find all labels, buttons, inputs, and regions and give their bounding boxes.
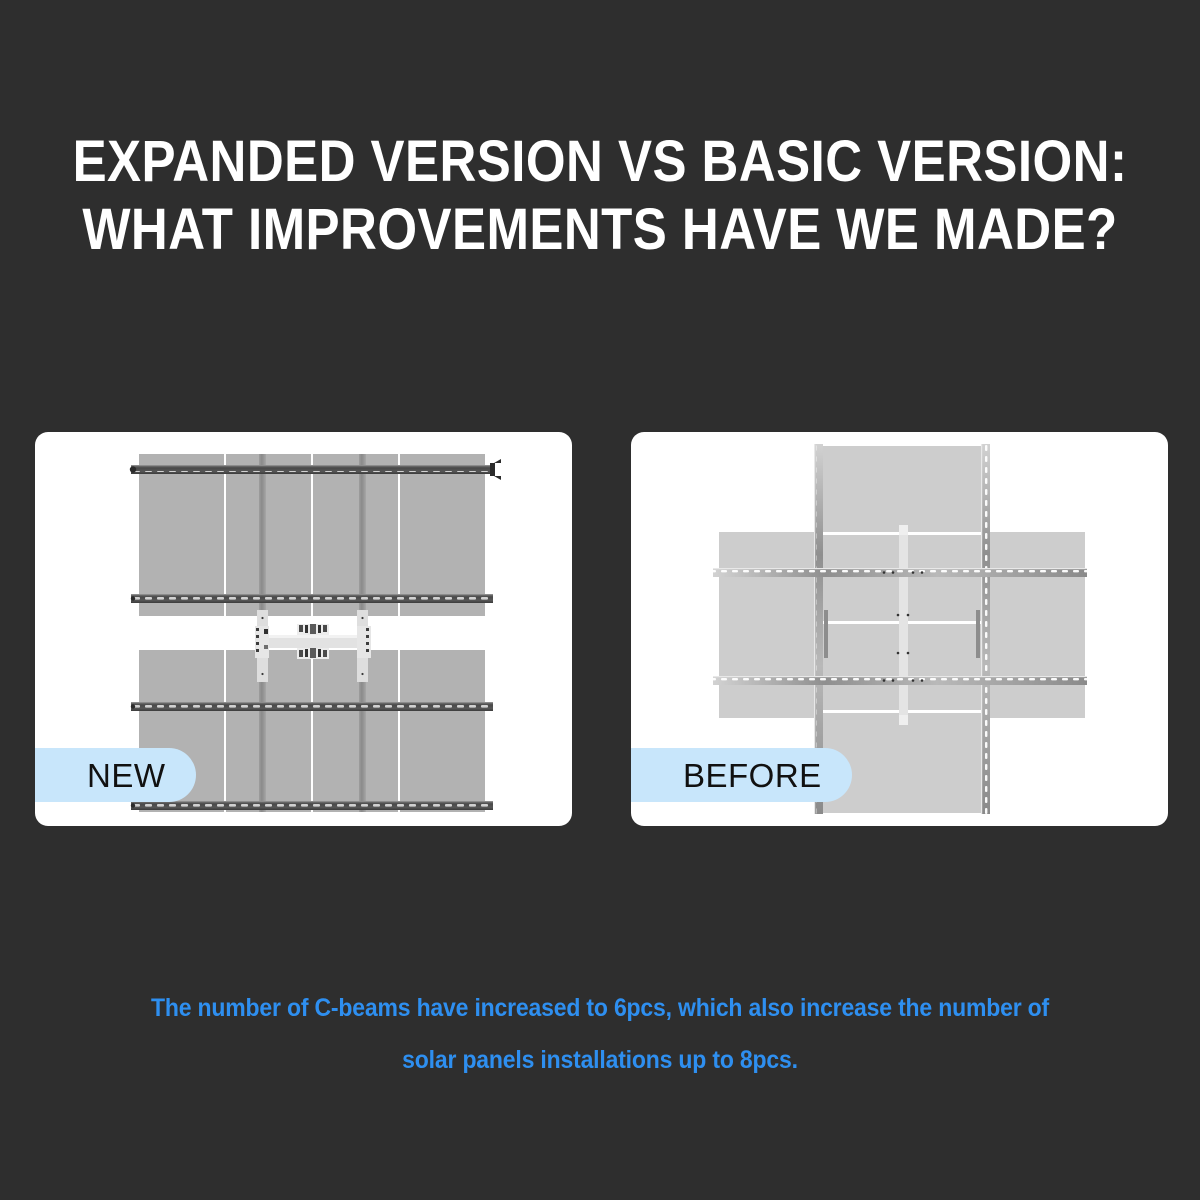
caption-line-1: The number of C-beams have increased to …: [103, 982, 1097, 1034]
caption-line-2: solar panels installations up to 8pcs.: [103, 1034, 1097, 1086]
c-beam-rail: [131, 465, 493, 474]
badge-new-label: NEW: [87, 759, 166, 792]
c-beam-rail: [713, 568, 1087, 577]
vertical-rail: [981, 444, 990, 814]
caption: The number of C-beams have increased to …: [60, 982, 1140, 1086]
badge-new: NEW: [35, 748, 196, 802]
page-title: EXPANDED VERSION VS BASIC VERSION: WHAT …: [0, 128, 1200, 264]
badge-before: BEFORE: [631, 748, 852, 802]
title-line-1: EXPANDED VERSION VS BASIC VERSION:: [72, 128, 1128, 196]
comparison-cards: NEW: [35, 432, 1168, 826]
c-beam-rail: [131, 594, 493, 603]
solar-panel-group-top: [139, 454, 485, 616]
title-line-2: WHAT IMPROVEMENTS HAVE WE MADE?: [72, 196, 1128, 264]
badge-before-label: BEFORE: [683, 759, 822, 792]
solar-panel-group-horizontal: [719, 525, 1085, 725]
c-beam-rail: [713, 676, 1087, 685]
card-new: NEW: [35, 432, 572, 826]
c-beam-rail: [131, 801, 493, 810]
c-beam-rail: [131, 702, 493, 711]
card-before: BEFORE: [631, 432, 1168, 826]
